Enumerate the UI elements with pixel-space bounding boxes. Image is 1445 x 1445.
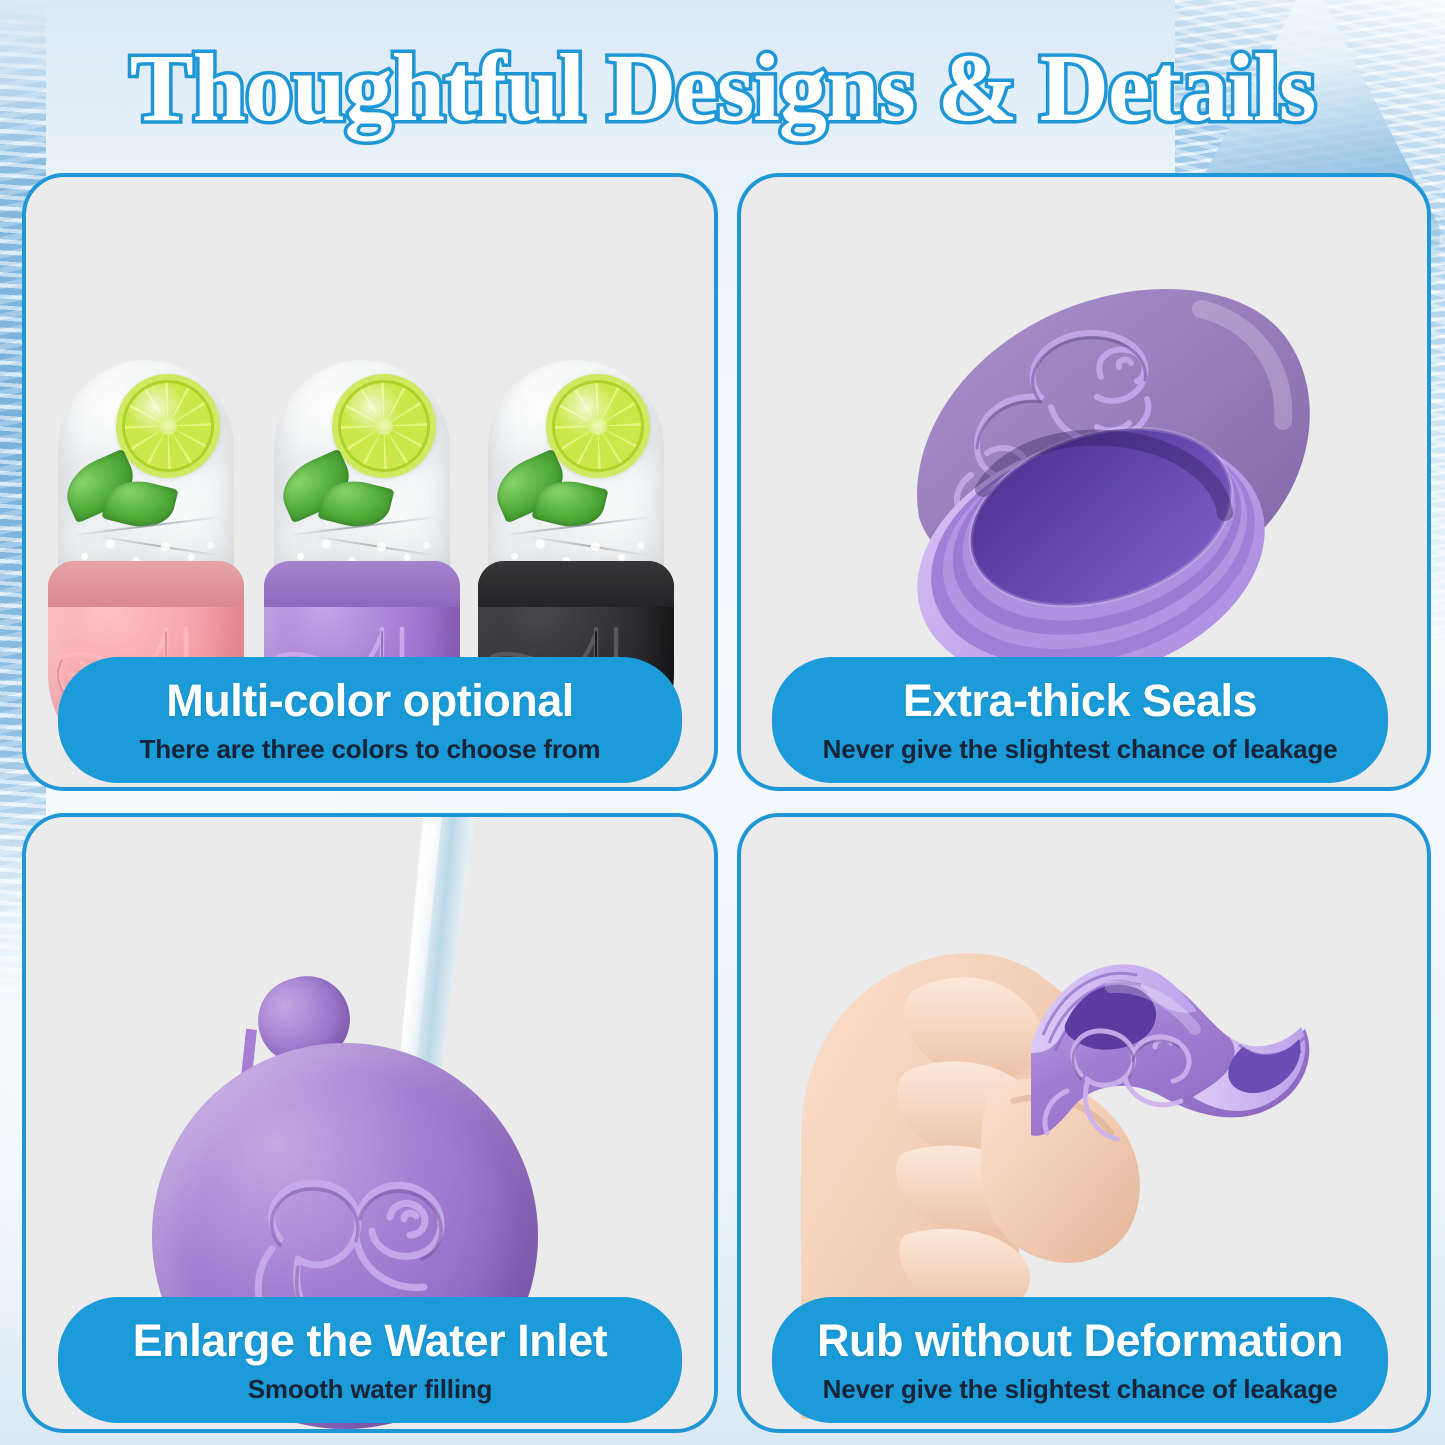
sleeve-collar <box>478 561 674 607</box>
ice-capsule <box>274 360 450 585</box>
feature-subtitle: Never give the slightest chance of leaka… <box>823 733 1338 765</box>
page-title: Thoughtful Designs & Details <box>0 34 1445 142</box>
ice-capsule <box>488 360 664 585</box>
feature-title: Extra-thick Seals <box>903 675 1257 727</box>
feature-label-enlarge-water-inlet: Enlarge the Water Inlet Smooth water fil… <box>58 1297 682 1423</box>
feature-title: Rub without Deformation <box>817 1315 1343 1367</box>
feature-label-rub-without-deformation: Rub without Deformation Never give the s… <box>772 1297 1388 1423</box>
sleeve-collar <box>48 561 244 607</box>
feature-subtitle: Smooth water filling <box>248 1373 492 1405</box>
feature-subtitle: There are three colors to choose from <box>140 733 601 765</box>
feature-subtitle: Never give the slightest chance of leaka… <box>823 1373 1338 1405</box>
feature-title: Enlarge the Water Inlet <box>133 1315 607 1367</box>
feature-title: Multi-color optional <box>166 675 573 727</box>
infographic-page: Thoughtful Designs & Details <box>0 0 1445 1445</box>
sleeve-collar <box>264 561 460 607</box>
feature-label-extra-thick-seals: Extra-thick Seals Never give the slighte… <box>772 657 1388 783</box>
ice-capsule <box>58 360 234 585</box>
feature-label-multi-color: Multi-color optional There are three col… <box>58 657 682 783</box>
